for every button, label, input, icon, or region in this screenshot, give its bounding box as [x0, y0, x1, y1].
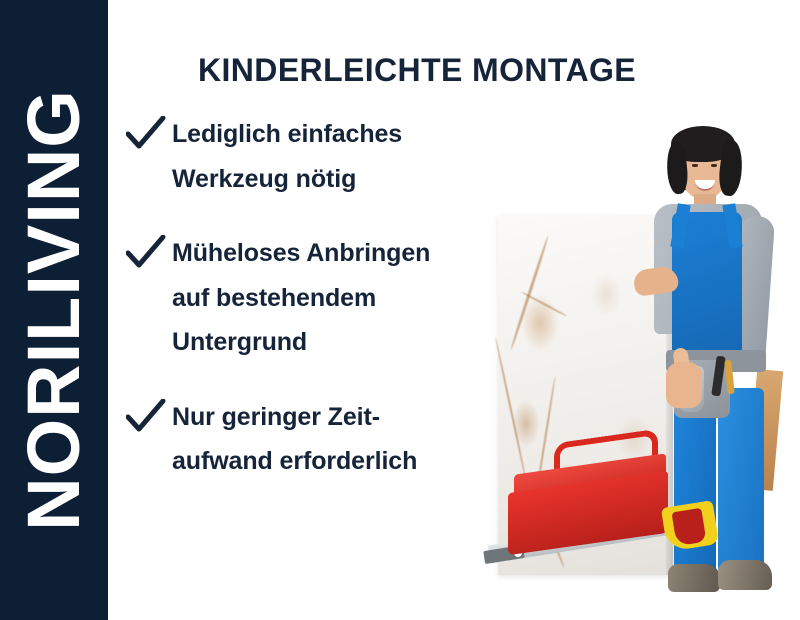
worker-eye-right	[711, 164, 717, 167]
worker-boot-right	[718, 560, 772, 590]
panel-vein	[510, 235, 550, 350]
check-icon	[126, 395, 172, 433]
list-item: Müheloses Anbringen auf bestehendem Unte…	[126, 231, 526, 365]
check-icon	[126, 112, 172, 150]
promo-banner: NORILIVING KINDERLEICHTE MONTAGE Ledigli…	[0, 0, 800, 620]
brand-rail: NORILIVING	[0, 0, 108, 620]
worker-eye-left	[692, 164, 698, 167]
list-item: Lediglich einfaches Werkzeug nötig	[126, 112, 526, 201]
check-icon	[126, 231, 172, 269]
panel-vein	[521, 291, 568, 317]
hero-photo	[468, 120, 800, 620]
worker-right-hand	[666, 362, 702, 408]
benefit-list: Lediglich einfaches Werkzeug nötig Mühel…	[126, 112, 526, 484]
panel-vein	[494, 336, 527, 483]
page-title: KINDERLEICHTE MONTAGE	[198, 51, 668, 89]
brand-name: NORILIVING	[17, 89, 91, 531]
worker-boot-left	[668, 564, 720, 592]
list-item: Nur geringer Zeit- aufwand erforderlich	[126, 395, 526, 484]
